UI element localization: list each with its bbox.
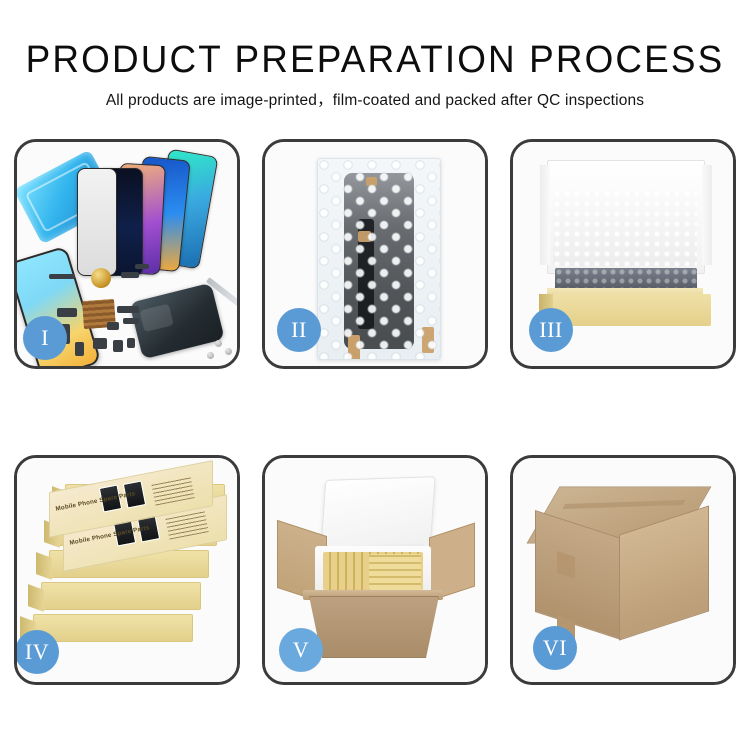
part-icon [135,264,149,269]
process-step-panel-2: II [262,139,488,369]
step-badge-1: I [23,316,67,360]
stacked-box-icon [33,614,193,642]
screw-icon [215,340,222,347]
step-badge-6: VI [533,626,577,670]
part-icon [113,340,123,352]
part-icon [75,342,84,356]
carton-body-icon [309,596,439,658]
process-step-panel-6: VI [510,455,736,685]
step-badge-3: III [529,308,573,352]
step-badge-4: IV [15,630,59,674]
packed-boxes-icon [369,554,421,590]
part-icon [127,338,135,348]
stacked-box-icon [41,582,201,610]
process-step-panel-3: III [510,139,736,369]
screw-icon [207,352,214,359]
process-step-panel-1: I [14,139,240,369]
foam-lid-icon [320,476,435,552]
part-icon [57,308,77,317]
page-subtitle: All products are image-printed，film-coat… [0,91,750,110]
header: PRODUCT PREPARATION PROCESS All products… [0,38,750,110]
part-icon [121,272,139,278]
step-badge-5: V [279,628,323,672]
step-badge-2: II [277,308,321,352]
part-icon [49,274,75,279]
process-step-panel-4: Mobile Phone Spare Parts Mobile Phone Sp… [14,455,240,685]
part-icon [117,306,139,313]
part-icon [93,338,107,349]
page-title: PRODUCT PREPARATION PROCESS [11,38,739,82]
bubble-wrap-bag-icon [317,158,441,360]
coil-icon [91,268,111,288]
product-preparation-process-page: PRODUCT PREPARATION PROCESS All products… [0,0,750,750]
foam-sheet-icon [553,190,697,266]
part-icon [107,322,119,330]
screw-icon [225,348,232,355]
screen-protector-icon [77,168,117,276]
part-icon [123,318,139,324]
process-steps-grid: I II [14,139,736,685]
phone-lineup-icon [89,152,239,282]
bubble-texture-icon [318,159,440,359]
process-step-panel-5: V [262,455,488,685]
phone-back-housing-icon [129,283,225,360]
